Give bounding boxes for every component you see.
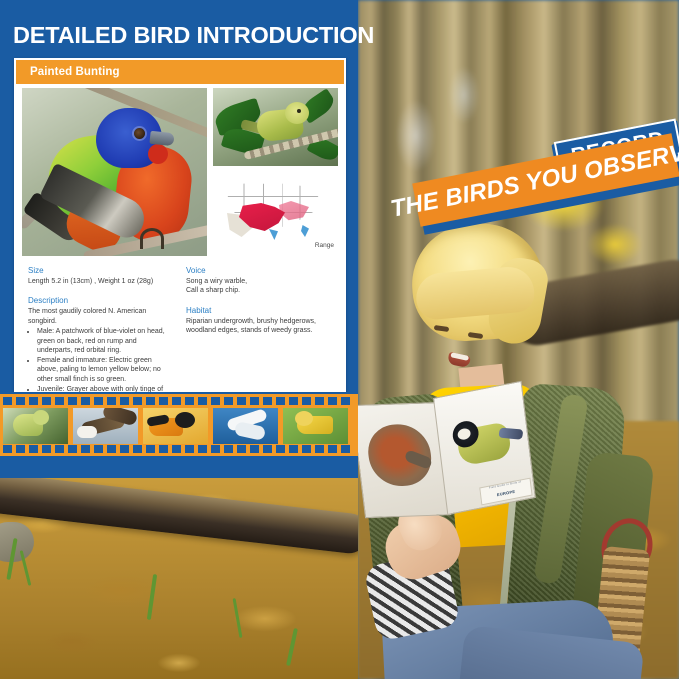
male-painted-bunting-photo <box>22 88 207 256</box>
sprocket-hole-icon <box>29 445 38 453</box>
sprocket-hole-icon <box>328 397 337 405</box>
yellow-oriole-head <box>295 411 313 426</box>
sprocket-hole-icon <box>16 445 25 453</box>
sprocket-hole-icon <box>107 445 116 453</box>
sprocket-hole-icon <box>211 397 220 405</box>
bunting-eye <box>134 128 145 139</box>
sprocket-hole-icon <box>94 397 103 405</box>
spacer <box>28 286 172 296</box>
sprocket-hole-icon <box>185 397 194 405</box>
list-item: Female and immature: Electric green abov… <box>37 356 172 384</box>
sprocket-hole-icon <box>133 397 142 405</box>
bunting-beak <box>149 131 174 146</box>
sprocket-hole-icon <box>289 397 298 405</box>
eagle-head <box>77 426 97 438</box>
observe-banner: THE BIRDS YOU OBSERVE <box>412 133 679 227</box>
filmstrip-frame-3[interactable] <box>143 408 208 444</box>
sprocket-hole-icon <box>237 445 246 453</box>
sprocket-hole-icon <box>263 445 272 453</box>
media-row: Range <box>22 88 338 256</box>
sprocket-hole-icon <box>3 445 12 453</box>
sprocket-hole-icon <box>250 397 259 405</box>
sprocket-hole-icon <box>29 397 38 405</box>
filmstrip-frame-4[interactable] <box>213 408 278 444</box>
sprocket-hole-icon <box>42 445 51 453</box>
grass-blade <box>286 628 298 666</box>
text-columns: Size Length 5.2 in (13cm) , Weight 1 oz … <box>22 256 338 404</box>
range-map-label: Range <box>315 242 334 249</box>
sprocket-hole-icon <box>341 445 350 453</box>
map-water-icon <box>301 225 309 237</box>
sprocket-hole-icon <box>276 445 285 453</box>
sprocket-hole-icon <box>81 445 90 453</box>
voice-text: Song a wiry warble, Call a sharp chip. <box>186 277 330 296</box>
habitat-heading: Habitat <box>186 306 330 315</box>
tern-body <box>234 421 266 441</box>
habitat-text: Riparian undergrowth, brushy hedgerows, … <box>186 317 330 336</box>
sprocket-hole-icon <box>159 445 168 453</box>
size-heading: Size <box>28 266 172 275</box>
sprocket-hole-icon <box>224 397 233 405</box>
filmstrip <box>0 394 358 456</box>
sprocket-hole-icon <box>3 397 12 405</box>
sprocket-hole-icon <box>289 445 298 453</box>
sprocket-holes-bottom <box>0 445 358 453</box>
sprocket-hole-icon <box>198 397 207 405</box>
sprocket-hole-icon <box>224 445 233 453</box>
female-bunting-eye <box>297 109 301 113</box>
sprocket-hole-icon <box>211 445 220 453</box>
filmstrip-frame-2[interactable] <box>73 408 138 444</box>
record-banner: RECORD THE BIRDS YOU OBSERVE <box>404 132 679 242</box>
great-tit-photo <box>447 407 523 480</box>
range-map: Range <box>213 171 338 251</box>
side-column: Range <box>213 88 338 256</box>
sprocket-hole-icon <box>250 445 259 453</box>
sprocket-hole-icon <box>276 397 285 405</box>
sprocket-hole-icon <box>146 397 155 405</box>
mouth <box>447 352 471 368</box>
sprocket-hole-icon <box>172 397 181 405</box>
sprocket-hole-icon <box>68 445 77 453</box>
sprocket-hole-icon <box>185 445 194 453</box>
sprocket-hole-icon <box>328 445 337 453</box>
species-card: Painted Bunting <box>14 58 346 392</box>
bunting-foot <box>140 228 164 249</box>
sprocket-hole-icon <box>302 397 311 405</box>
sprocket-hole-icon <box>55 445 64 453</box>
boy-in-forest-photo: Field Guide to Birds of EUROPE <box>358 0 679 679</box>
sprocket-hole-icon <box>315 445 324 453</box>
sprocket-hole-icon <box>159 397 168 405</box>
robin-photo <box>365 423 435 487</box>
sprocket-hole-icon <box>42 397 51 405</box>
boy-figure: Field Guide to Birds of EUROPE <box>364 218 664 679</box>
oriole-head <box>175 412 195 428</box>
right-text-column: Voice Song a wiry warble, Call a sharp c… <box>186 266 330 404</box>
left-text-column: Size Length 5.2 in (13cm) , Weight 1 oz … <box>28 266 172 404</box>
sprocket-hole-icon <box>68 397 77 405</box>
sprocket-hole-icon <box>133 445 142 453</box>
sprocket-hole-icon <box>81 397 90 405</box>
book-caption: Field Guide to Birds of EUROPE <box>479 478 532 506</box>
sprocket-hole-icon <box>107 397 116 405</box>
spacer <box>186 296 330 306</box>
sprocket-hole-icon <box>172 445 181 453</box>
sprocket-hole-icon <box>315 397 324 405</box>
filmstrip-frame-5[interactable] <box>283 408 348 444</box>
great-tit-tail <box>498 427 523 439</box>
sprocket-hole-icon <box>263 397 272 405</box>
sprocket-hole-icon <box>237 397 246 405</box>
left-blue-panel: DETAILED BIRD INTRODUCTION Painted Bunti… <box>0 0 358 679</box>
voice-heading: Voice <box>186 266 330 275</box>
species-card-header: Painted Bunting <box>16 60 344 84</box>
sprocket-hole-icon <box>94 445 103 453</box>
female-painted-bunting-photo <box>213 88 338 166</box>
bird-head <box>33 410 49 425</box>
forest-floor-photo <box>0 478 358 679</box>
sprocket-hole-icon <box>341 397 350 405</box>
poster-root: Field Guide to Birds of EUROPE DETAILED … <box>0 0 679 679</box>
sprocket-hole-icon <box>16 397 25 405</box>
sprocket-hole-icon <box>302 445 311 453</box>
size-text: Length 5.2 in (13cm) , Weight 1 oz (28g) <box>28 277 172 286</box>
fallen-log <box>0 478 358 555</box>
sprocket-hole-icon <box>146 445 155 453</box>
sprocket-hole-icon <box>120 397 129 405</box>
list-item: Male: A patchwork of blue-violet on head… <box>37 327 172 355</box>
page-title: DETAILED BIRD INTRODUCTION <box>13 22 353 49</box>
filmstrip-frame-1[interactable] <box>3 408 68 444</box>
bird-book: Field Guide to Birds of EUROPE <box>358 384 535 526</box>
sprocket-holes-top <box>0 397 358 405</box>
filmstrip-frames <box>3 408 348 444</box>
book-right-page: Field Guide to Birds of EUROPE <box>433 381 536 515</box>
species-card-body: Range Size Length 5.2 in (13cm) , Weight… <box>16 84 344 404</box>
sprocket-hole-icon <box>55 397 64 405</box>
description-heading: Description <box>28 296 172 305</box>
sprocket-hole-icon <box>120 445 129 453</box>
description-intro: The most gaudily colored N. American son… <box>28 307 172 326</box>
female-bunting-head <box>285 102 309 124</box>
species-name: Painted Bunting <box>30 66 120 78</box>
grass-blade <box>233 598 243 638</box>
sprocket-hole-icon <box>198 445 207 453</box>
grass-blade <box>147 574 157 620</box>
